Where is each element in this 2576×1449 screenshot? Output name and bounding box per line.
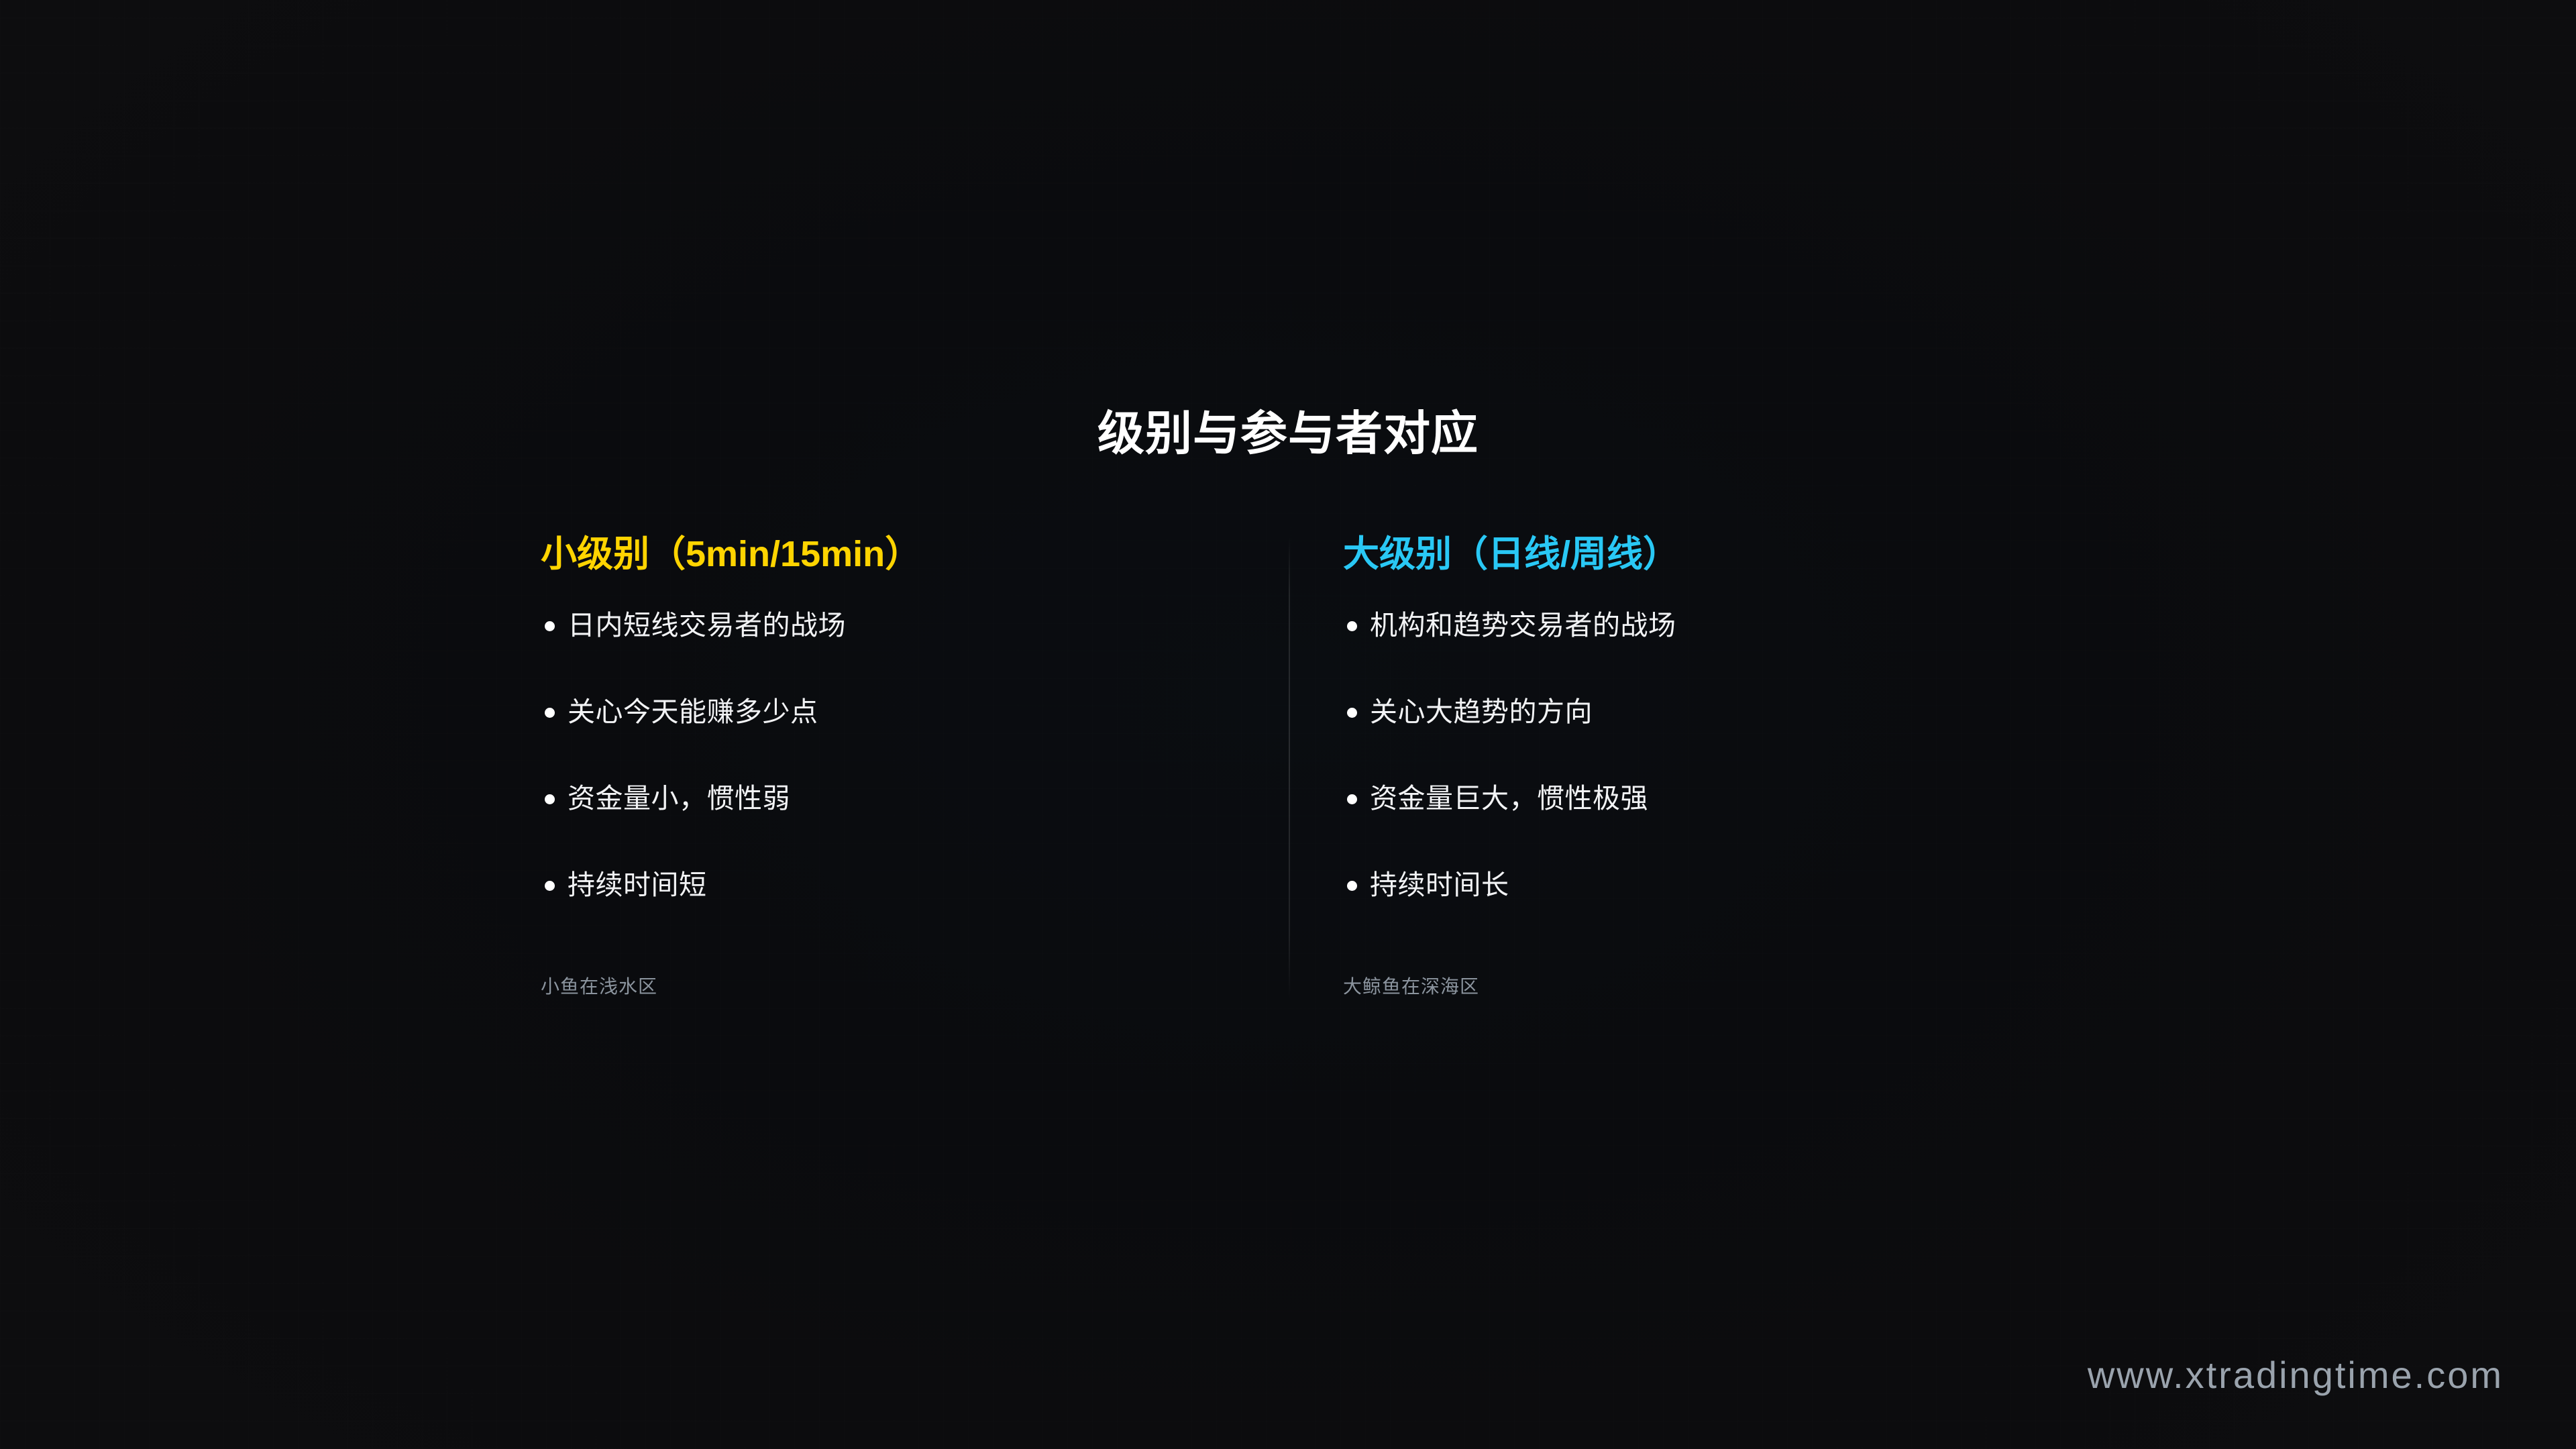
list-item: 关心大趋势的方向 <box>1343 695 2081 782</box>
bullet-label: 持续时间短 <box>568 868 707 902</box>
slide-canvas: 级别与参与者对应 小级别（5min/15min） 日内短线交易者的战场 关心今天… <box>0 0 2576 1449</box>
page-title: 级别与参与者对应 <box>0 408 2576 460</box>
bullet-label: 日内短线交易者的战场 <box>568 608 846 643</box>
bullet-list-small-timeframe: 日内短线交易者的战场 关心今天能赚多少点 资金量小，惯性弱 持续时间短 <box>541 608 1279 955</box>
list-item: 资金量小，惯性弱 <box>541 782 1279 868</box>
bullet-label: 持续时间长 <box>1370 868 1509 902</box>
site-watermark: www.xtradingtime.com <box>2088 1353 2504 1397</box>
bullet-dot-icon <box>545 708 555 718</box>
column-large-timeframe: 大级别（日线/周线） 机构和趋势交易者的战场 关心大趋势的方向 资金量巨大，惯性… <box>1343 533 2081 999</box>
bullet-label: 关心大趋势的方向 <box>1370 695 1593 729</box>
bullet-label: 关心今天能赚多少点 <box>568 695 818 729</box>
list-item: 关心今天能赚多少点 <box>541 695 1279 782</box>
list-item: 持续时间短 <box>541 868 1279 955</box>
bullet-dot-icon <box>1347 708 1357 718</box>
column-small-timeframe: 小级别（5min/15min） 日内短线交易者的战场 关心今天能赚多少点 资金量… <box>541 533 1279 999</box>
column-footnote-small-timeframe: 小鱼在浅水区 <box>541 972 1279 999</box>
list-item: 机构和趋势交易者的战场 <box>1343 608 2081 695</box>
comparison-columns: 小级别（5min/15min） 日内短线交易者的战场 关心今天能赚多少点 资金量… <box>0 533 2576 1063</box>
bullet-label: 资金量巨大，惯性极强 <box>1370 782 1648 816</box>
column-heading-large-timeframe: 大级别（日线/周线） <box>1343 533 2081 576</box>
bullet-label: 资金量小，惯性弱 <box>568 782 790 816</box>
bullet-list-large-timeframe: 机构和趋势交易者的战场 关心大趋势的方向 资金量巨大，惯性极强 持续时间长 <box>1343 608 2081 955</box>
bullet-dot-icon <box>1347 881 1357 891</box>
column-heading-small-timeframe: 小级别（5min/15min） <box>541 533 1279 576</box>
list-item: 资金量巨大，惯性极强 <box>1343 782 2081 868</box>
list-item: 持续时间长 <box>1343 868 2081 955</box>
bullet-dot-icon <box>1347 621 1357 631</box>
bullet-dot-icon <box>545 881 555 891</box>
bullet-dot-icon <box>545 621 555 631</box>
bullet-dot-icon <box>545 794 555 804</box>
list-item: 日内短线交易者的战场 <box>541 608 1279 695</box>
column-footnote-large-timeframe: 大鲸鱼在深海区 <box>1343 972 2081 999</box>
bullet-dot-icon <box>1347 794 1357 804</box>
bullet-label: 机构和趋势交易者的战场 <box>1370 608 1676 643</box>
